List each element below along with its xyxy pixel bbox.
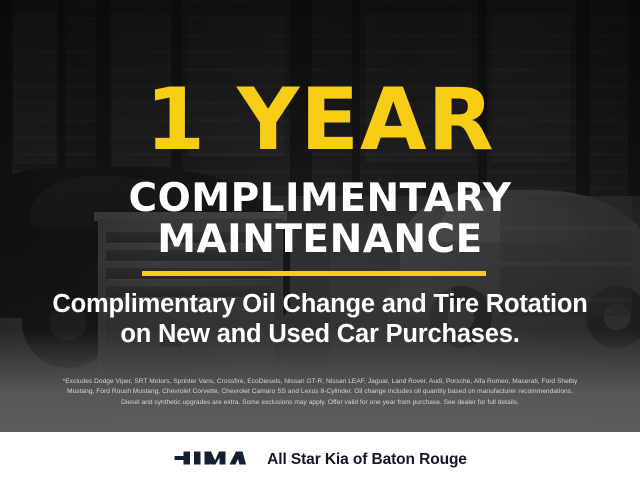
- dealer-name: All Star Kia of Baton Rouge: [267, 451, 467, 469]
- disclaimer-line-2: Mustang, Ford Roush Mustang, Chevrolet C…: [14, 387, 626, 397]
- headline-complimentary: COMPLIMENTARY: [0, 178, 640, 219]
- dealer-footer: All Star Kia of Baton Rouge: [0, 432, 640, 488]
- yellow-divider-rule: [142, 271, 486, 276]
- subheadline-line-1: Complimentary Oil Change and Tire Rotati…: [14, 289, 626, 319]
- subheadline: Complimentary Oil Change and Tire Rotati…: [14, 289, 626, 349]
- kia-logo-icon: [173, 446, 247, 475]
- disclaimer-line-1: *Excludes Dodge Viper, SRT Motors, Sprin…: [14, 377, 626, 387]
- headline-year: 1 YEAR: [0, 77, 640, 163]
- subheadline-line-2: on New and Used Car Purchases.: [14, 319, 626, 349]
- promotional-ad: 1 YEAR COMPLIMENTARY MAINTENANCE Complim…: [0, 0, 640, 488]
- disclaimer-line-3: Diesel and synthetic upgrades are extra.…: [14, 398, 626, 408]
- ad-copy: 1 YEAR COMPLIMENTARY MAINTENANCE Complim…: [0, 0, 640, 432]
- headline-maintenance: MAINTENANCE: [0, 219, 640, 260]
- disclaimer-text: *Excludes Dodge Viper, SRT Motors, Sprin…: [14, 377, 626, 408]
- hero-section: 1 YEAR COMPLIMENTARY MAINTENANCE Complim…: [0, 0, 640, 432]
